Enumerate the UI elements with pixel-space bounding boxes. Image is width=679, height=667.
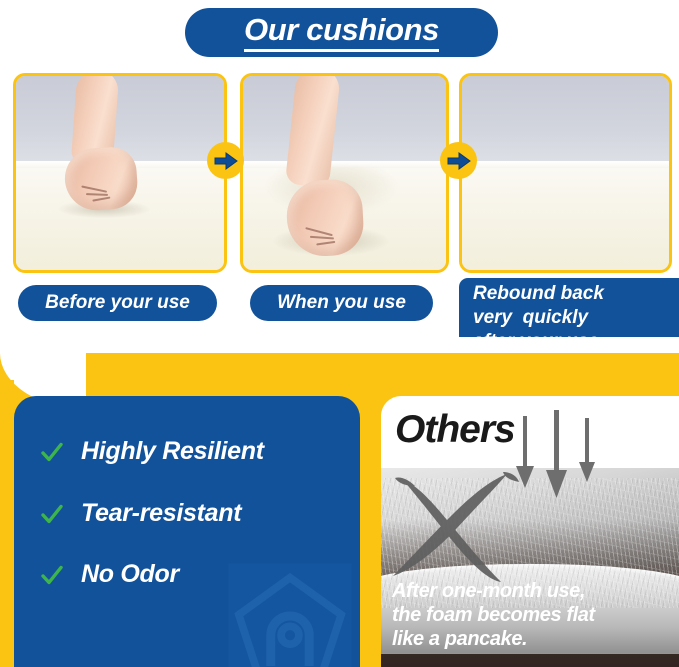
competitor-title: Others	[395, 408, 515, 452]
photo-after-scene	[462, 76, 669, 270]
feature-item: Tear-resistant	[40, 499, 241, 528]
transition-arrow-1	[207, 142, 244, 179]
knuckle-crease	[316, 241, 335, 246]
competitor-panel: Others After one-month use, the foam bec…	[381, 396, 679, 667]
check-icon	[40, 440, 64, 464]
page-title: Our cushions	[244, 14, 439, 52]
step-photo-during	[240, 73, 449, 273]
foam-top-edge	[243, 161, 446, 168]
competitor-caption-line-2: the foam becomes flat	[392, 603, 673, 627]
step-label-after-line-1: Rebound back	[473, 282, 679, 306]
foam-top-edge	[462, 161, 669, 168]
features-panel: Highly Resilient Tear-resistant No Odor	[14, 396, 360, 667]
white-divider-strip	[0, 337, 679, 353]
check-icon	[40, 563, 64, 587]
house-pentagon-logo-icon	[226, 561, 354, 667]
photo-background-wall	[243, 76, 446, 167]
knuckle-crease	[86, 193, 108, 196]
step-photo-before	[13, 73, 227, 273]
step-photo-after	[459, 73, 672, 273]
feature-label: No Odor	[81, 560, 179, 589]
yellow-background-top	[0, 353, 679, 383]
step-label-during: When you use	[250, 285, 433, 321]
transition-arrow-2	[440, 142, 477, 179]
check-icon	[40, 502, 64, 526]
knuckle-crease	[81, 185, 107, 192]
feature-label: Highly Resilient	[81, 437, 264, 466]
knuckle-crease	[92, 197, 110, 202]
competitor-caption-line-3: like a pancake.	[392, 627, 673, 651]
knuckle-crease	[305, 227, 333, 236]
infographic-page: Our cushions	[0, 0, 679, 667]
feature-item: Highly Resilient	[40, 437, 264, 466]
feature-label: Tear-resistant	[81, 499, 241, 528]
page-title-banner: Our cushions	[185, 8, 498, 57]
step-label-after-line-2: very quickly	[473, 306, 679, 330]
photo-during-scene	[243, 76, 446, 270]
photo-before-scene	[16, 76, 224, 270]
yellow-left-strip	[0, 380, 14, 667]
step-label-before: Before your use	[18, 285, 217, 321]
foam-block-restored	[462, 161, 669, 270]
competitor-caption: After one-month use, the foam becomes fl…	[392, 579, 673, 651]
knuckle-crease	[310, 236, 334, 240]
photo-background-wall	[462, 76, 669, 167]
feature-item: No Odor	[40, 560, 179, 589]
x-mark-icon	[385, 470, 535, 590]
competitor-caption-line-1: After one-month use,	[392, 579, 673, 603]
